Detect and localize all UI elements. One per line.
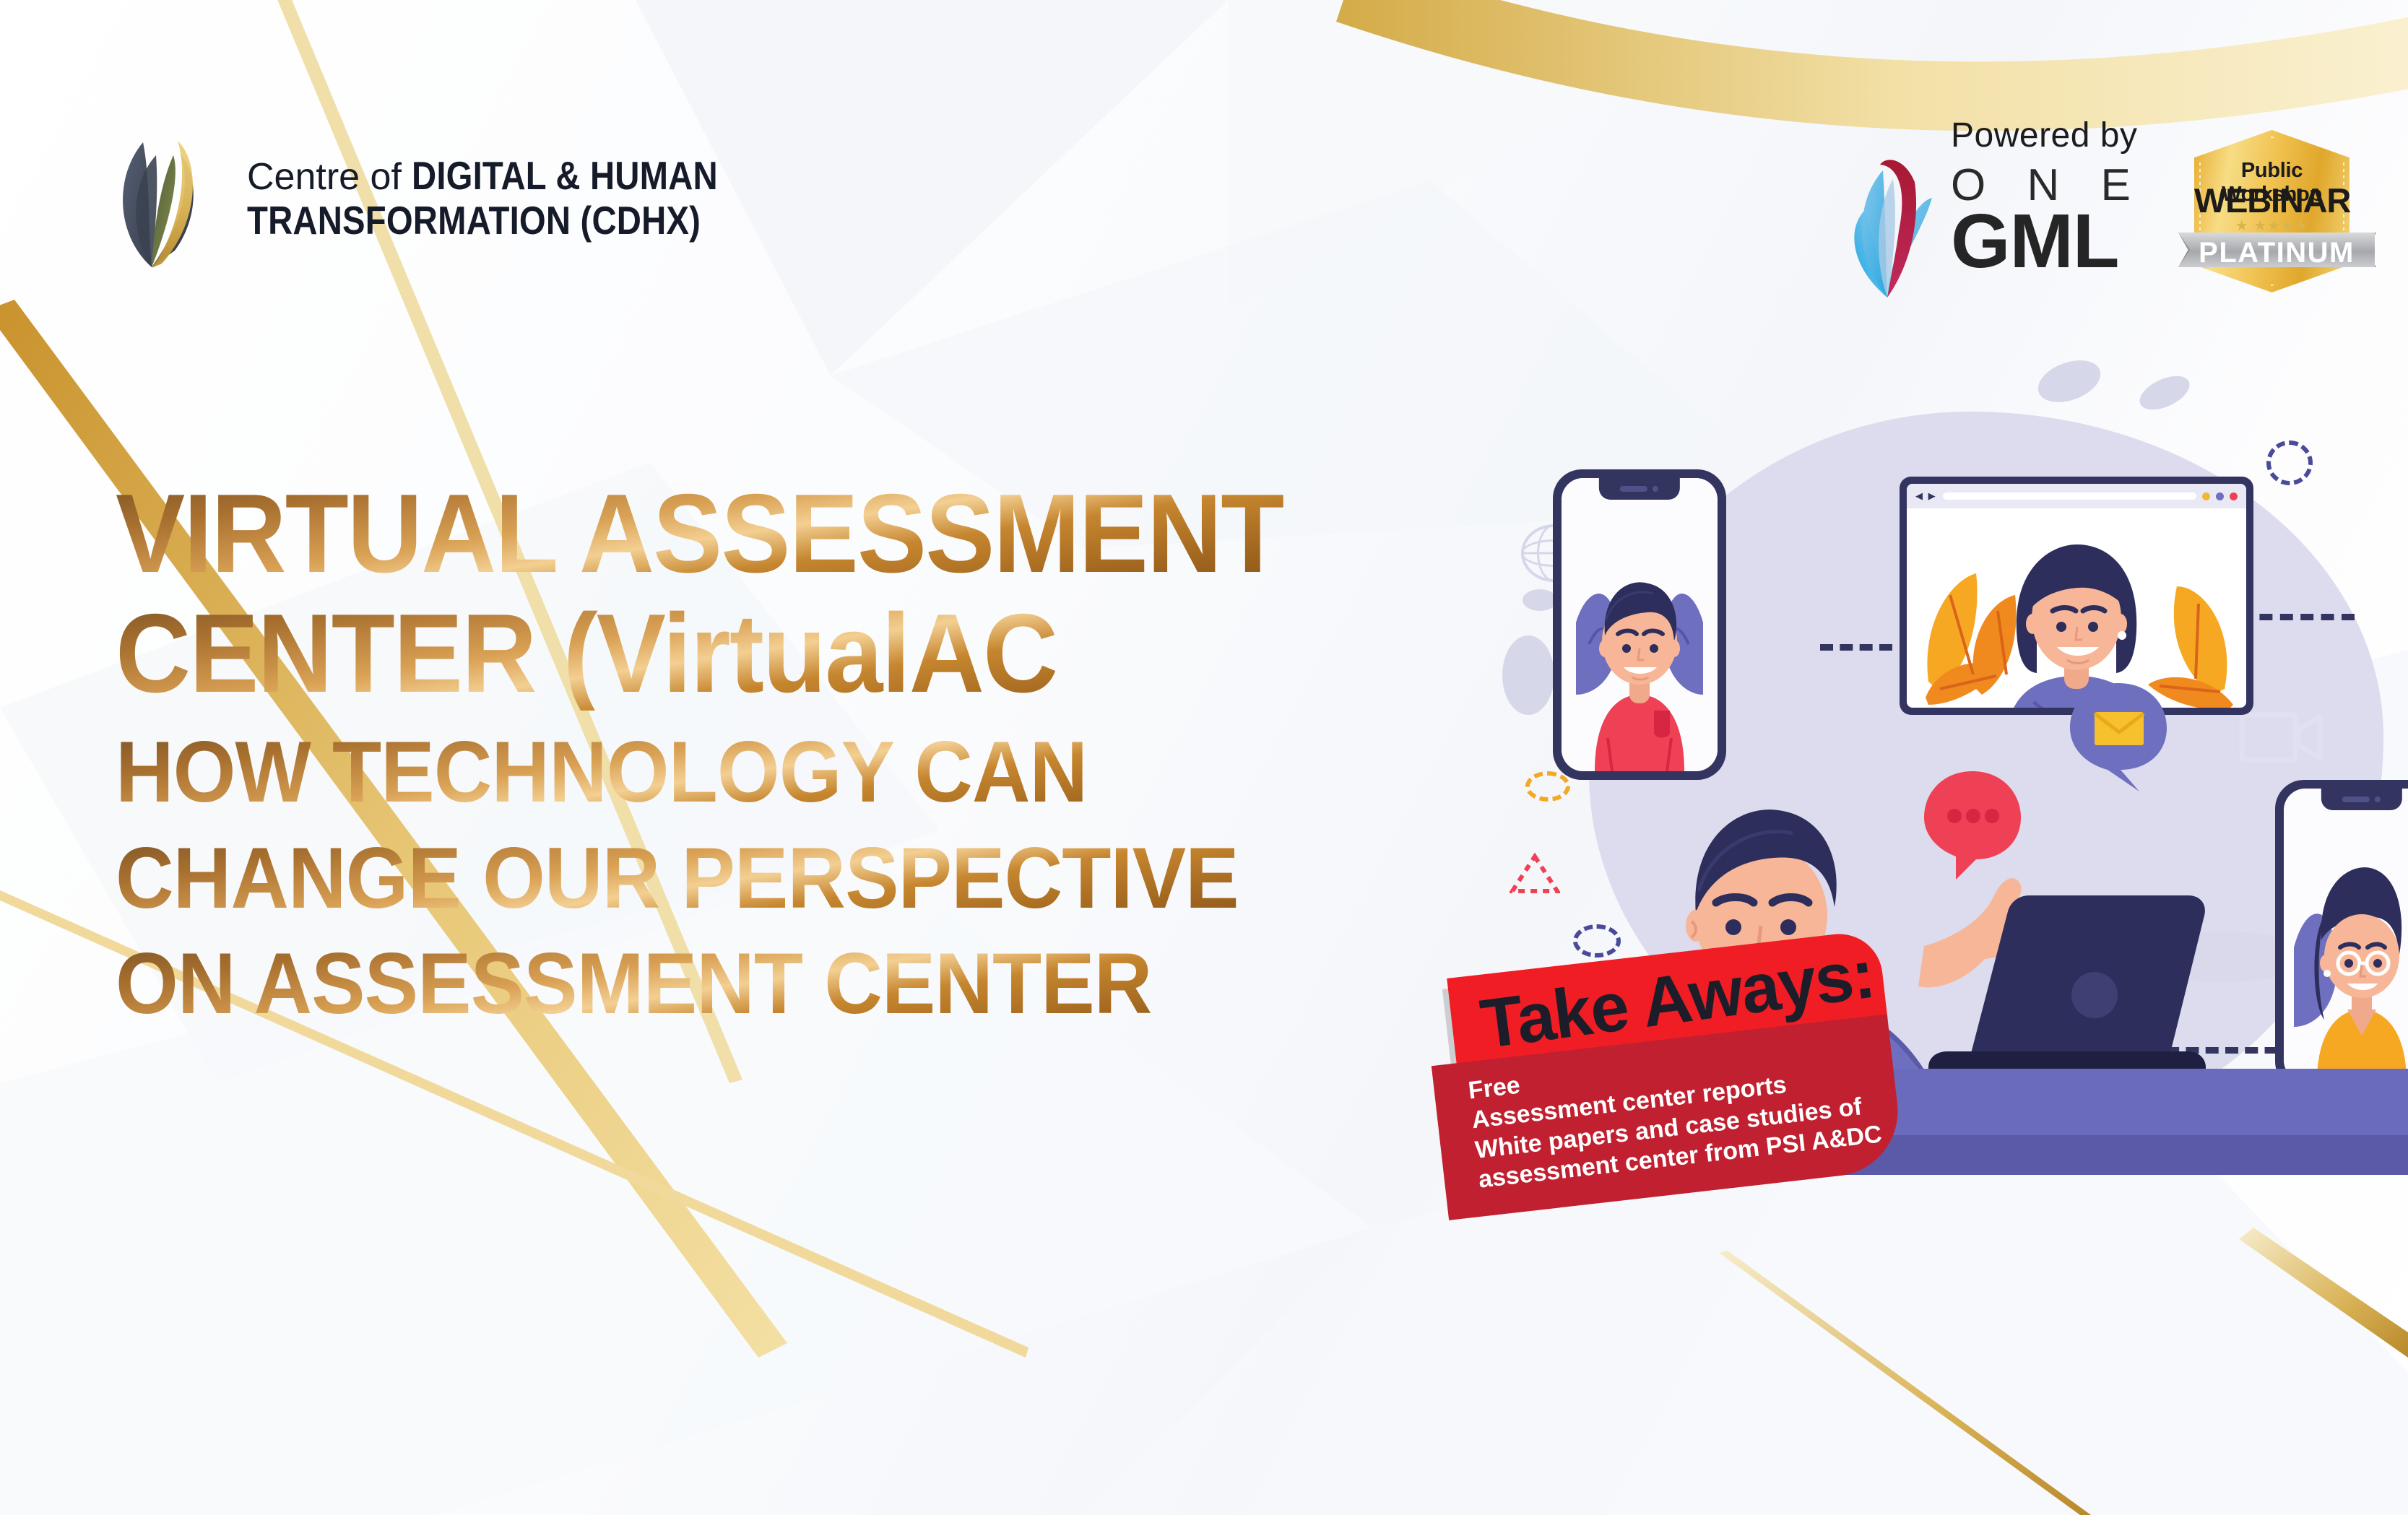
browser-address-bar[interactable] xyxy=(1943,492,2196,500)
cdhx-logo-line1: Centre of DIGITAL & HUMAN xyxy=(247,154,774,199)
phone-screen xyxy=(1562,478,1718,771)
phone-notch-right xyxy=(2321,789,2402,810)
dashed-connector xyxy=(1820,644,1892,651)
headline-line-1: VIRTUAL ASSESSMENT xyxy=(116,477,1493,591)
badge-line2: WEBINAR xyxy=(2194,181,2349,220)
browser-toolbar: ◀ ▶ xyxy=(1907,484,2246,508)
decorative-blob xyxy=(1523,589,1557,611)
subhead-line-2: CHANGE OUR PERSPECTIVE xyxy=(116,834,1493,922)
subhead-line-1: HOW TECHNOLOGY CAN xyxy=(116,728,1493,816)
phone-camera-right xyxy=(2375,796,2381,802)
dashed-connector xyxy=(2239,614,2355,620)
headline-block: VIRTUAL ASSESSMENT CENTER (VirtualAC HOW… xyxy=(116,477,1596,1028)
headline-line-2: CENTER (VirtualAC xyxy=(116,596,1493,711)
phone-speaker-right xyxy=(2342,796,2370,802)
badge-stars-icon: ★ ★★★★ xyxy=(2194,217,2349,235)
dashed-triangle-icon xyxy=(1510,852,1560,895)
dashed-circle-orange-icon xyxy=(1525,771,1570,802)
cdhx-leaf-logo-icon xyxy=(108,126,217,271)
phone-speaker xyxy=(1620,486,1647,492)
cdhx-logo-line1-bold: DIGITAL & HUMAN xyxy=(412,154,718,199)
cdhx-logo-line1-thin: Centre of xyxy=(247,156,412,198)
platinum-webinar-badge: Public Workshop WEBINAR ★ ★★★★ PLATINUM xyxy=(2194,130,2375,292)
dashed-circle-blue-icon xyxy=(2266,440,2313,485)
dashed-circle-blue-icon xyxy=(1573,924,1621,958)
browser-nav-arrows-icon[interactable]: ◀ ▶ xyxy=(1915,490,1937,502)
powered-by-label: Powered by xyxy=(1951,116,2145,155)
smartphone-video-call-right xyxy=(2275,780,2408,1090)
browser-viewport: ◀ ▶ xyxy=(1907,484,2246,708)
browser-dot-yellow-icon xyxy=(2202,492,2210,500)
decorative-blob xyxy=(1502,635,1554,715)
subhead-line-3: ON ASSESSMENT CENTER xyxy=(116,939,1493,1028)
gml-word: GML xyxy=(1951,207,2145,277)
cdhx-logo-line2: TRANSFORMATION (CDHX) xyxy=(247,199,701,243)
onegml-wordmark: Powered by O N E GML xyxy=(1951,116,2145,277)
decorative-blob xyxy=(2134,369,2194,417)
phone-camera xyxy=(1653,486,1658,492)
phone-screen-right xyxy=(2284,789,2408,1082)
video-camera-icon xyxy=(2239,708,2326,770)
phone-notch xyxy=(1599,478,1680,500)
smartphone-video-call xyxy=(1553,469,1726,780)
browser-dot-blue-icon xyxy=(2216,492,2224,500)
webinar-promo-banner: Centre of DIGITAL & HUMAN TRANSFORMATION… xyxy=(0,0,2408,1515)
browser-dot-red-icon xyxy=(2230,492,2238,500)
platinum-ribbon-label: PLATINUM xyxy=(2178,237,2375,269)
cdhx-logo: Centre of DIGITAL & HUMAN TRANSFORMATION… xyxy=(108,126,774,271)
powered-by-onegml: Powered by O N E GML xyxy=(1845,116,2145,300)
onegml-flame-logo-icon xyxy=(1845,144,1939,300)
cdhx-logo-text: Centre of DIGITAL & HUMAN TRANSFORMATION… xyxy=(247,154,774,243)
takeaways-callout: Take Aways: Free Assessment center repor… xyxy=(1447,929,1905,1215)
laptop-icon xyxy=(1900,881,2225,1090)
